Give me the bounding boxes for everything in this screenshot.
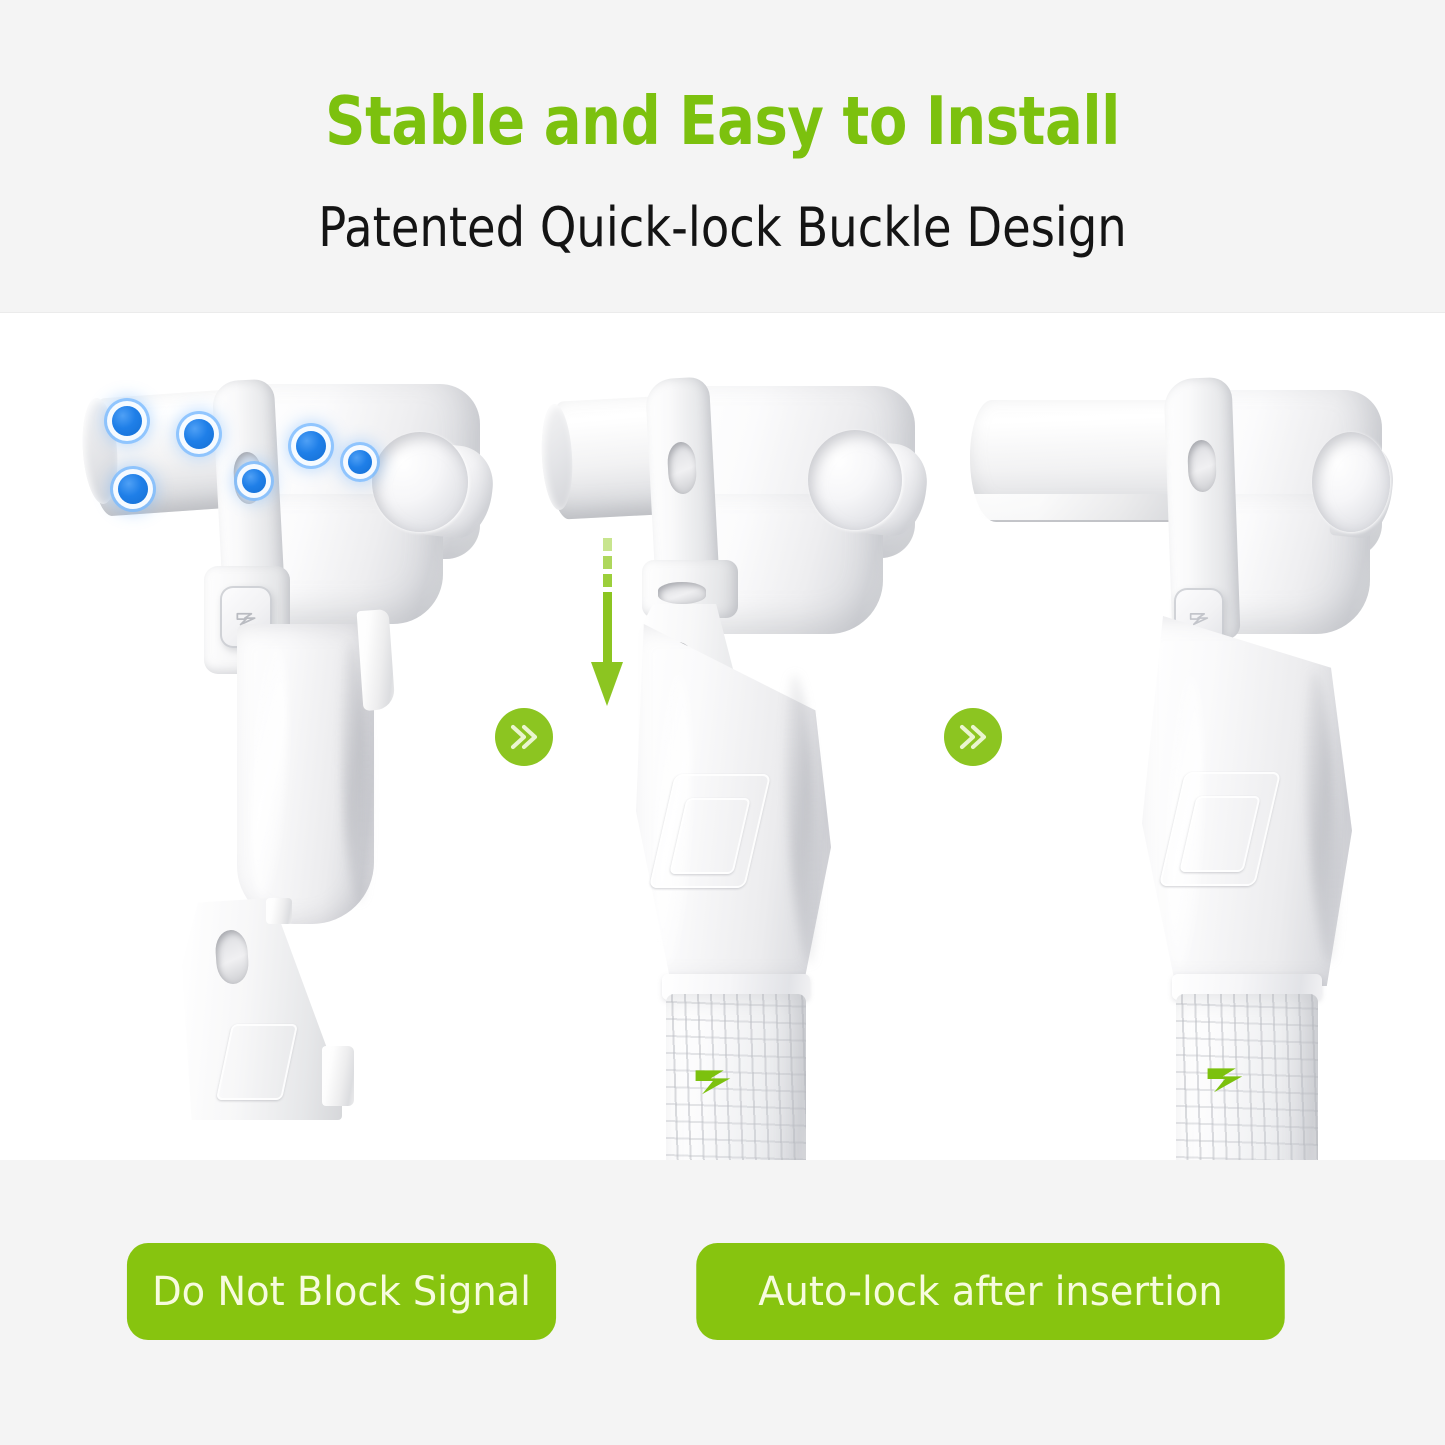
detached-buckle [180, 892, 380, 1122]
signal-dot-6 [242, 469, 266, 493]
signal-dot-1 [112, 406, 142, 436]
signal-dot-3 [118, 474, 148, 504]
step-3-buckle-locked [960, 376, 1390, 1160]
signal-dot-5 [348, 450, 372, 474]
brand-mark-3 [1200, 1050, 1252, 1102]
page-subtitle: Patented Quick-lock Buckle Design [101, 196, 1344, 259]
mount-dimple [372, 432, 468, 532]
header-band: Stable and Easy to Install Patented Quic… [0, 0, 1445, 313]
buckle-tip [322, 1046, 354, 1106]
signal-dot-4 [296, 431, 326, 461]
buckle-top-nub [266, 898, 292, 924]
product-infographic: Stable and Easy to Install Patented Quic… [0, 0, 1445, 1445]
brand-mark-2 [688, 1052, 740, 1104]
product-stage [0, 314, 1445, 1160]
rail-slot-3 [1187, 440, 1217, 493]
signal-dot-2 [184, 419, 214, 449]
rear-tab [357, 609, 396, 711]
step-2-buckle-inserting [530, 374, 950, 1160]
insert-direction-arrow [586, 534, 628, 714]
page-title: Stable and Easy to Install [51, 82, 1395, 160]
latch-pin [658, 582, 706, 604]
mount-dimple-3 [1312, 432, 1390, 532]
badge-auto-lock-after-insertion: Auto-lock after insertion [696, 1243, 1284, 1340]
step-1-bracket-detached [70, 374, 510, 974]
badge-do-not-block-signal: Do Not Block Signal [127, 1243, 556, 1340]
mount-dimple-2 [808, 430, 902, 530]
